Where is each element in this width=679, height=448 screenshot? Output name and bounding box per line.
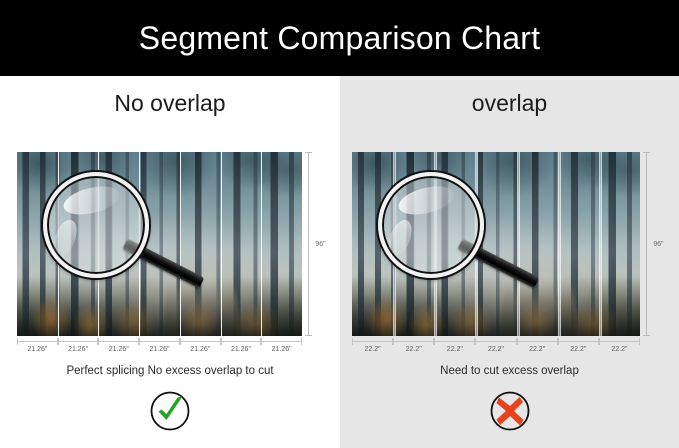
segment-dimension-label: 21.26" — [109, 346, 129, 354]
panel-heading-overlap: overlap — [340, 92, 679, 115]
magnifier-gloss — [395, 181, 456, 219]
mural-preview-overlap — [352, 152, 640, 336]
segment-dimension: 22.2" — [517, 338, 558, 354]
height-dimension-label: 96" — [306, 241, 325, 248]
magnifying-glass-icon — [378, 172, 484, 278]
magnifier-gloss-secondary — [384, 217, 416, 261]
segment-dimension: 22.2" — [475, 338, 516, 354]
page-title: Segment Comparison Chart — [139, 22, 540, 54]
segment-dimension-label: 22.2" — [406, 346, 422, 354]
cross-circle-icon — [487, 388, 533, 434]
forest-photo — [352, 152, 640, 336]
segment-dimension: 21.26" — [58, 338, 99, 354]
height-dimension-no-overlap: 96" — [304, 152, 328, 336]
segment-dimension: 22.2" — [393, 338, 434, 354]
magnifier-lens — [43, 172, 149, 278]
comparison-panels: No overlap — [0, 76, 679, 448]
panel-overlap: overlap — [340, 76, 679, 448]
segment-dimension-label: 22.2" — [611, 346, 627, 354]
segment-dimension-label: 22.2" — [570, 346, 586, 354]
magnifying-glass-icon — [43, 172, 149, 278]
title-banner: Segment Comparison Chart — [0, 0, 679, 76]
segment-dimension-label: 21.26" — [190, 346, 210, 354]
segment-dimension: 21.26" — [139, 338, 180, 354]
height-dimension-label: 96" — [644, 241, 663, 248]
height-dimension-overlap: 96" — [642, 152, 666, 336]
segment-dimension: 22.2" — [558, 338, 599, 354]
forest-photo — [17, 152, 302, 336]
check-circle-icon — [147, 388, 193, 434]
segment-dimension: 22.2" — [599, 338, 640, 354]
width-dimensions-no-overlap: 21.26" 21.26" 21.26" 21.26" 21.26" — [17, 338, 302, 354]
segment-dimension: 21.26" — [17, 338, 58, 354]
segment-dimension-label: 21.26" — [231, 346, 251, 354]
panel-heading-no-overlap: No overlap — [0, 92, 340, 115]
magnifier-gloss-secondary — [49, 217, 81, 261]
magnifier-lens — [378, 172, 484, 278]
magnifier-gloss — [60, 181, 121, 219]
caption-overlap: Need to cut excess overlap — [340, 366, 679, 378]
segment-dimension: 21.26" — [98, 338, 139, 354]
segment-dimension: 21.26" — [180, 338, 221, 354]
segment-dimension-label: 21.26" — [272, 346, 292, 354]
segment-dimension: 21.26" — [261, 338, 302, 354]
panel-no-overlap: No overlap — [0, 76, 340, 448]
mural-preview-no-overlap — [17, 152, 302, 336]
segment-dimension-label: 21.26" — [150, 346, 170, 354]
segment-dimension-label: 22.2" — [529, 346, 545, 354]
segment-dimension-label: 21.26" — [68, 346, 88, 354]
caption-no-overlap: Perfect splicing No excess overlap to cu… — [0, 366, 340, 378]
width-dimensions-overlap: 22.2" 22.2" 22.2" 22.2" 22.2" — [352, 338, 640, 354]
segment-dimension-label: 22.2" — [488, 346, 504, 354]
segment-dimension-label: 22.2" — [447, 346, 463, 354]
segment-dimension-label: 21.26" — [27, 346, 47, 354]
segment-dimension-label: 22.2" — [365, 346, 381, 354]
segment-dimension: 21.26" — [221, 338, 262, 354]
segment-comparison-chart: Segment Comparison Chart No overlap — [0, 0, 679, 448]
segment-dimension: 22.2" — [434, 338, 475, 354]
segment-dimension: 22.2" — [352, 338, 393, 354]
